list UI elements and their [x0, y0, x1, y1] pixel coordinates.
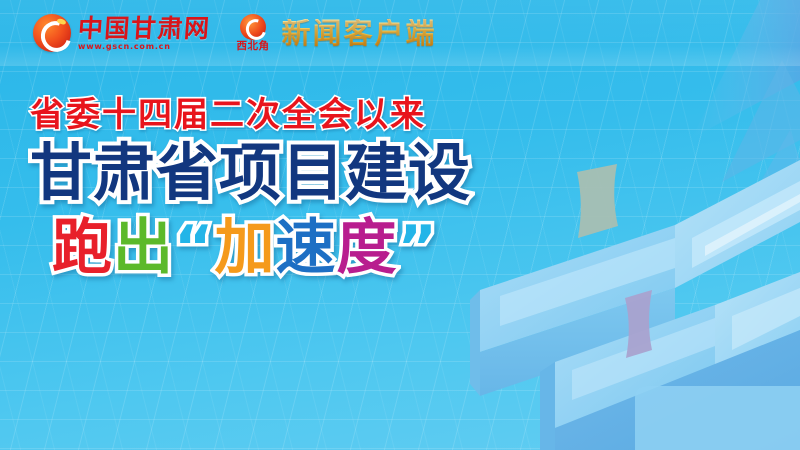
book-stack-lower: [540, 272, 800, 450]
xibeijiao-swoosh-icon: [240, 14, 266, 40]
site-name-label: 中国甘肃网: [77, 16, 211, 41]
slogan-char-4: 速: [275, 213, 336, 283]
slogan-char-6: ”: [397, 213, 437, 283]
app-name-label: 新闻客户端: [282, 19, 437, 48]
poster-root: 中国甘肃网 www.gscn.com.cn 西北角 新闻客户端 省委十四届二次全…: [0, 0, 800, 450]
bookmark-green: [577, 164, 618, 238]
slogan-char-1: 出: [113, 213, 174, 283]
kicker-text: 省委十四届二次全会以来: [30, 96, 570, 134]
slogan-char-5: 度: [336, 213, 397, 283]
gscn-wordmark[interactable]: 中国甘肃网 www.gscn.com.cn: [78, 16, 211, 51]
headline-block: 省委十四届二次全会以来 甘肃省项目建设 跑出“加速度”: [30, 96, 570, 280]
slogan-text: 跑出“加速度”: [52, 217, 570, 280]
header-logo-row: 中国甘肃网 www.gscn.com.cn 西北角 新闻客户端: [33, 11, 437, 55]
partner-name-label: 西北角: [237, 41, 270, 52]
slogan-char-0: 跑: [52, 213, 113, 283]
slogan-char-2: “: [174, 213, 214, 283]
page-title: 甘肃省项目建设: [30, 140, 570, 205]
bookmark-purple: [625, 290, 652, 358]
site-url-label: www.gscn.com.cn: [78, 43, 211, 51]
gscn-swoosh-icon[interactable]: [33, 14, 71, 52]
xibeijiao-logo[interactable]: 西北角: [237, 14, 270, 52]
slogan-char-3: 加: [214, 213, 275, 283]
